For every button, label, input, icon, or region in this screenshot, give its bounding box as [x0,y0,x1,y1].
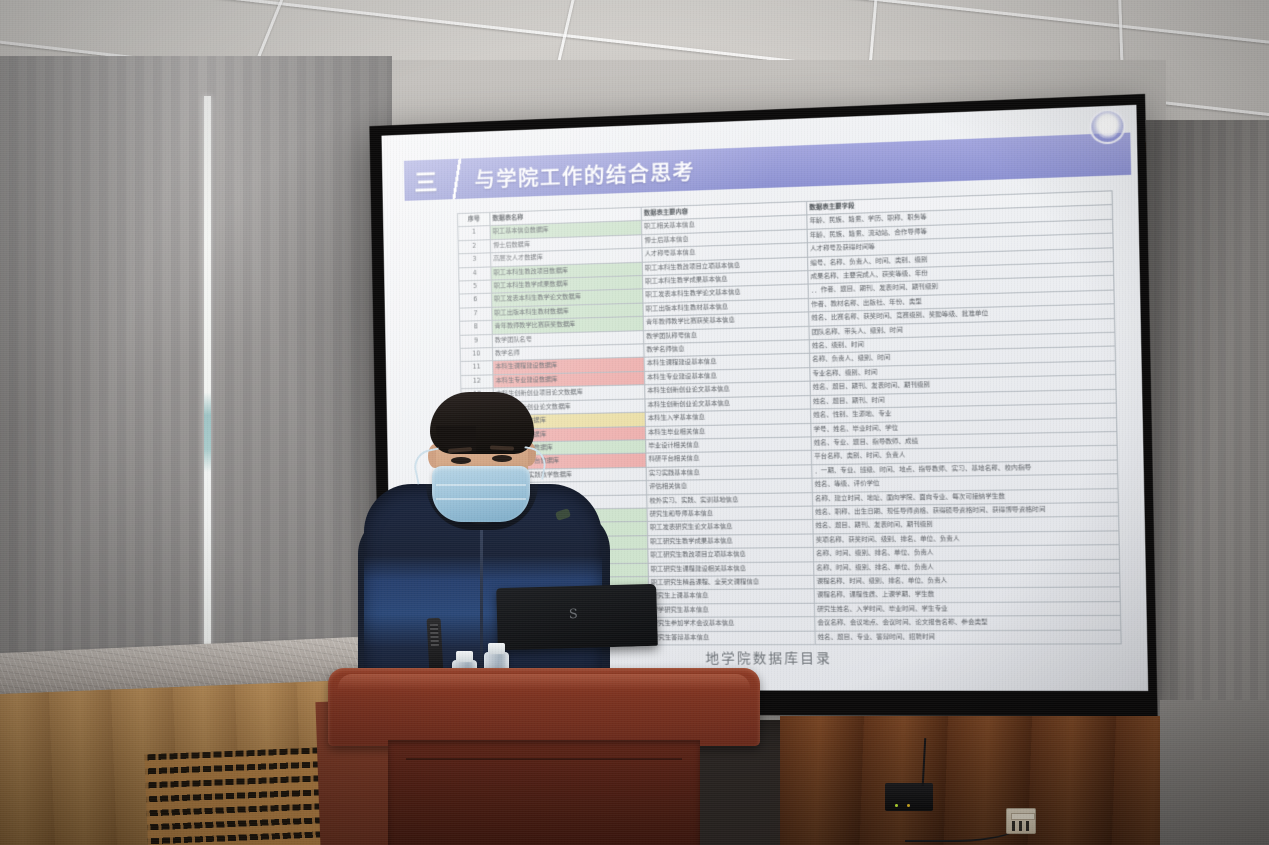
wooden-podium [328,668,760,845]
bottle-cap [456,651,473,662]
cell-content: 研究生答辩基本信息 [649,631,815,645]
cell-content: 研究生上课基本信息 [649,589,815,604]
wireless-receiver[interactable] [885,783,933,811]
power-led-icon [895,804,898,807]
hair [430,392,534,454]
cell-index: 8 [460,321,493,335]
cell-content: 职工研究生教学成果基本信息 [648,534,814,549]
cell-index: 7 [459,307,492,321]
cell-content: 职工研究生精品课程、全英文课程信息 [648,575,814,590]
conference-room-photo: 三 与学院工作的结合思考 序号 数据表名称 数据表主要内容 数据表主要字段 [0,0,1269,845]
laptop[interactable]: S [496,584,658,650]
laptop-logo-icon: S [569,608,581,622]
cell-content: 研究生参加学术会议基本信息 [649,617,815,631]
slide-title: 与学院工作的结合思考 [474,155,695,193]
surgical-mask [432,466,530,522]
podium-top-surface [328,668,760,746]
gooseneck-microphone[interactable] [427,618,444,675]
cell-fields: 研究生姓名、入学时间、毕业时间、学生专业 [814,601,1120,616]
cell-index: 9 [460,334,493,348]
cell-fields: 会议名称、会议地点、会议时间、论文报告名称、参会类型 [815,616,1121,631]
status-led-icon [907,804,910,807]
jacket-zipper [480,516,483,692]
cell-content: 职工研究生教改项目立项基本信息 [648,548,814,563]
slide-title-banner: 三 与学院工作的结合思考 [404,133,1131,201]
bottle-cap [488,643,505,654]
cell-index: 12 [461,375,494,389]
cell-index: 1 [458,226,491,241]
cell-index: 3 [458,253,491,268]
section-number: 三 [404,162,449,198]
curtain-light-gap [204,96,211,666]
cell-content: 职工研究生课程建设相关基本信息 [648,561,814,576]
slide-caption: 地学院数据库目录 [705,647,832,667]
lower-right-wall [1160,700,1269,845]
wall-power-outlet[interactable] [1006,808,1036,834]
left-eye [451,457,471,464]
cell-index: 6 [459,294,492,308]
cell-fields: 姓名、题目、专业、答辩时间、招聘时间 [815,630,1121,645]
cell-index: 2 [458,240,491,255]
col-header-index: 序号 [458,212,491,227]
window-curtain [0,56,392,696]
cell-index: 4 [459,267,492,281]
banner-slash-decor [448,158,465,199]
cell-index: 5 [459,280,492,294]
cell-index: 10 [460,348,493,362]
cell-index: 11 [460,361,493,375]
cell-content: 留学研究生基本信息 [649,603,815,618]
podium-column [388,740,700,845]
right-eye [492,455,512,462]
